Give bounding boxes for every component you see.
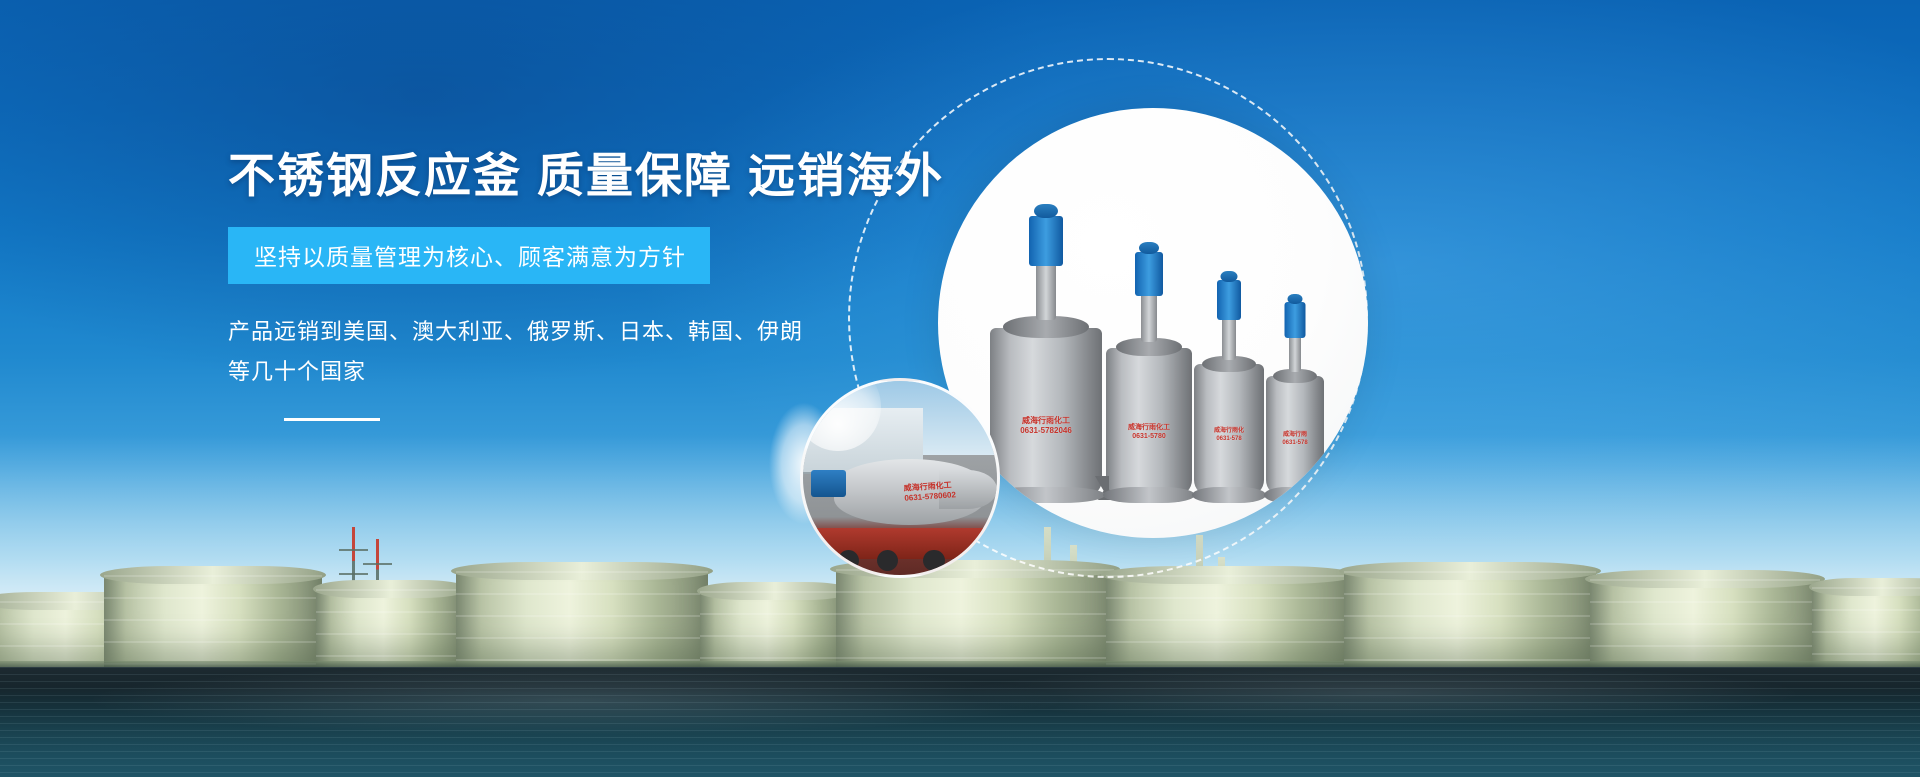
- storage-tank: [316, 587, 466, 669]
- banner-headline: 不锈钢反应釜 质量保障 远销海外: [228, 150, 868, 203]
- water-shimmer: [0, 667, 1920, 777]
- storage-tank: [836, 567, 1114, 669]
- vessel-label-line2: 0631-578: [1282, 440, 1307, 448]
- water-foreground: [0, 667, 1920, 777]
- storage-tank: [1106, 573, 1352, 669]
- storage-tank: [456, 569, 708, 669]
- photo-reactor-motor: [811, 470, 846, 497]
- vessel-label-line1: 威海行雨化工: [1128, 424, 1170, 433]
- photo-truck-wheel: [838, 550, 859, 571]
- reactor-vessel: 威海行雨化工 0631-5780: [1106, 348, 1192, 496]
- vessel-label-line1: 威海行雨化工: [1020, 416, 1072, 426]
- hero-banner: 威海行雨化工 0631-5782046 威海行雨化工 0631-5780: [0, 0, 1920, 777]
- storage-tank: [1344, 569, 1596, 669]
- reactor-vessel: 威海行雨化 0631-578: [1194, 364, 1264, 496]
- storage-tank: [1590, 577, 1820, 669]
- decorative-divider: [284, 418, 380, 421]
- product-photo-circle: 威海行雨化工 0631-5782046 威海行雨化工 0631-5780: [938, 108, 1368, 538]
- storage-tank: [700, 589, 850, 669]
- reactor-vessel: 威海行雨化工 0631-5782046: [990, 328, 1102, 496]
- vessel-label-line2: 0631-5782046: [1020, 426, 1072, 436]
- storage-tank: [1812, 585, 1920, 669]
- body-line-2: 等几十个国家: [228, 352, 868, 392]
- reactor-vessel: 威海行雨 0631-578: [1266, 376, 1324, 496]
- body-line-1: 产品远销到美国、澳大利亚、俄罗斯、日本、韩国、伊朗: [228, 312, 868, 352]
- banner-subtitle-bar: 坚持以质量管理为核心、顾客满意为方针: [228, 227, 710, 284]
- banner-copy: 不锈钢反应釜 质量保障 远销海外 坚持以质量管理为核心、顾客满意为方针 产品远销…: [228, 150, 868, 421]
- photo-truck-wheel: [877, 550, 898, 571]
- vessel-label-line2: 0631-578: [1214, 436, 1244, 444]
- vessel-label-line2: 0631-5780: [1128, 433, 1170, 442]
- photo-truck-wheel: [923, 550, 944, 571]
- storage-tank: [104, 573, 322, 669]
- vessel-label-line1: 威海行雨: [1282, 432, 1307, 440]
- vessel-label-line1: 威海行雨化: [1214, 428, 1244, 436]
- banner-body-text: 产品远销到美国、澳大利亚、俄罗斯、日本、韩国、伊朗 等几十个国家: [228, 312, 868, 392]
